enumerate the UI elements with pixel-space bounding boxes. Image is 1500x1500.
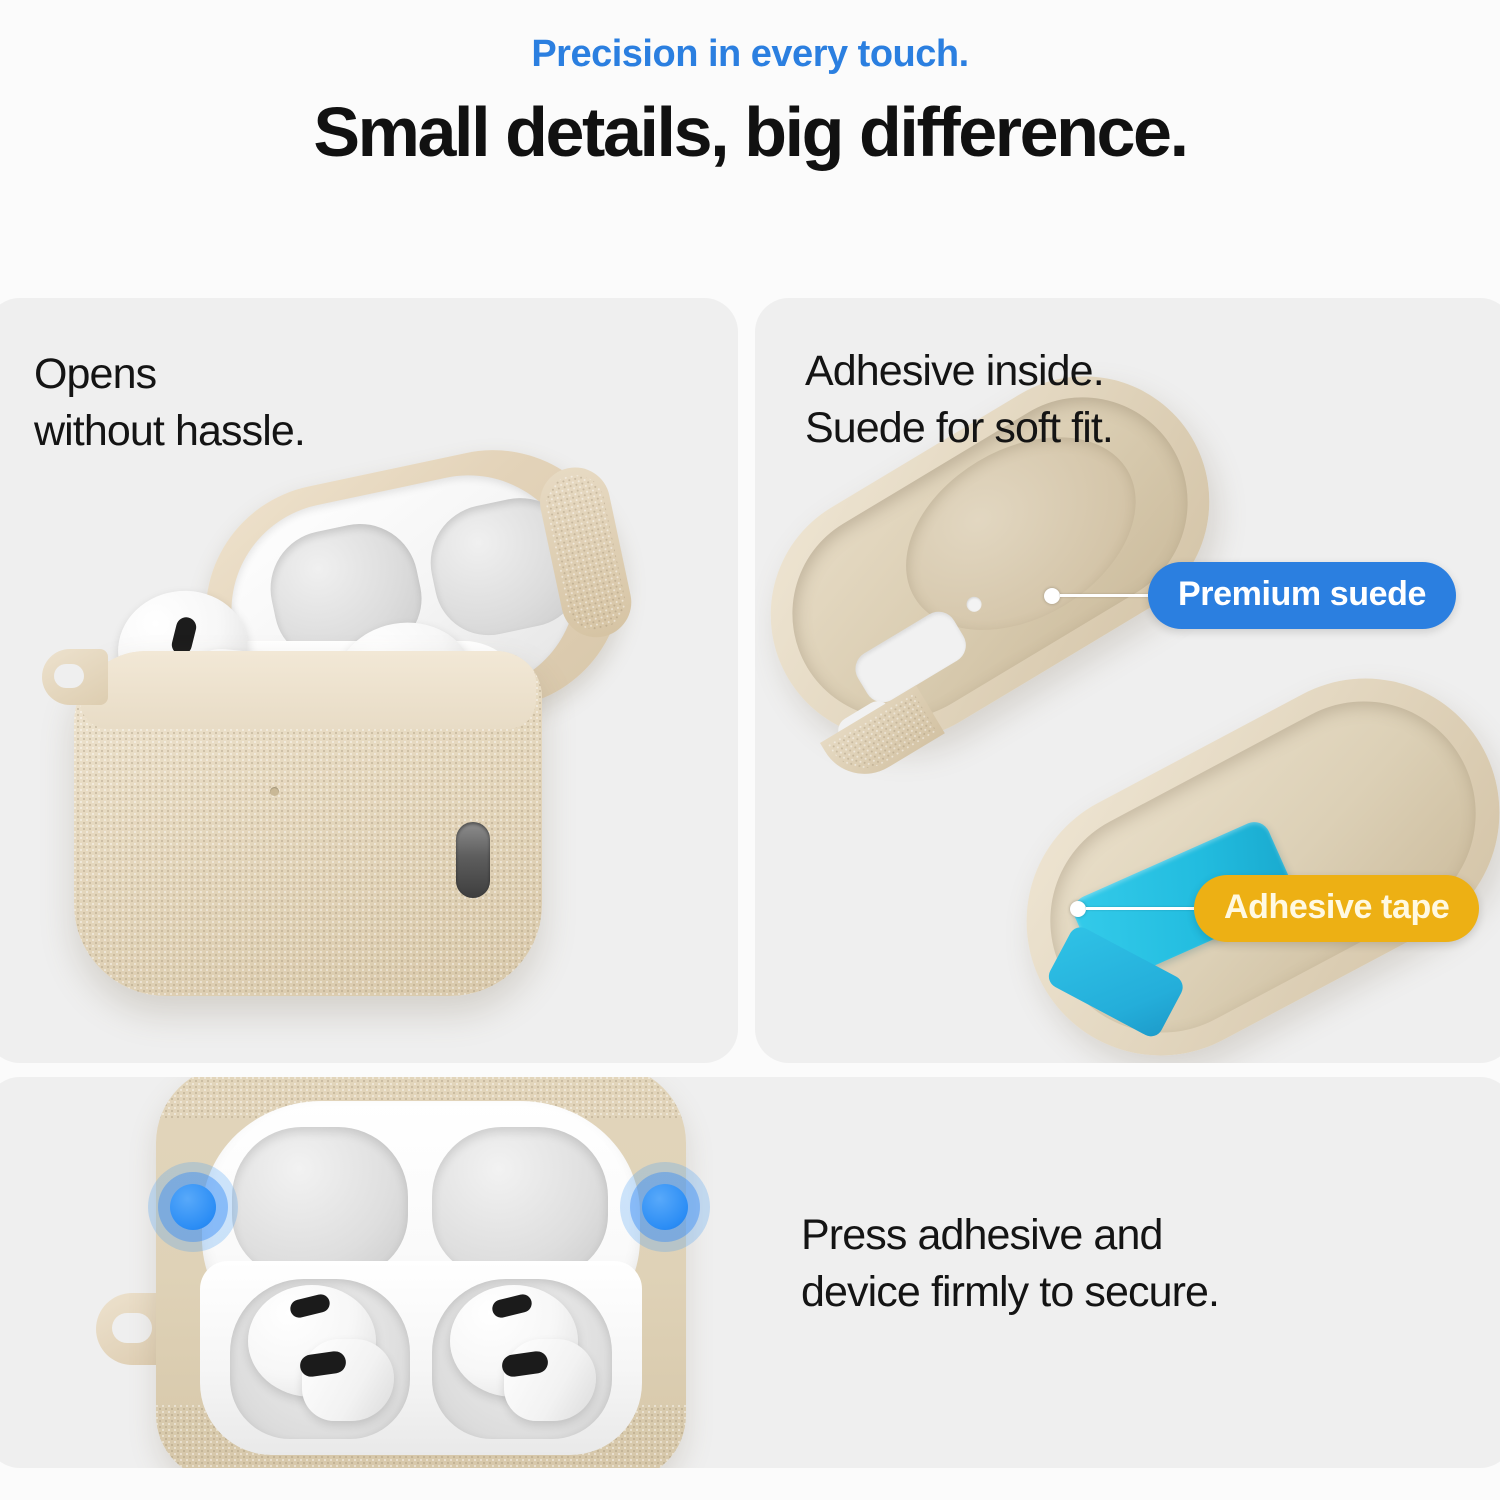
- panel-title-opens: Opens without hassle.: [34, 346, 305, 460]
- callout-leader-line: [1086, 907, 1194, 910]
- case-body-fabric: [74, 651, 542, 996]
- earbud-right: [444, 1285, 600, 1425]
- earbud-well-right: [432, 1279, 612, 1439]
- page-header: Precision in every touch. Small details,…: [0, 0, 1500, 172]
- callout-badge-label: Adhesive tape: [1194, 875, 1479, 942]
- case-tray-front: [200, 1261, 642, 1455]
- pulse-core: [170, 1184, 216, 1230]
- earbud-stem: [504, 1339, 596, 1421]
- earbud-stem: [302, 1339, 394, 1421]
- panel-title-adhesive: Adhesive inside. Suede for soft fit.: [805, 343, 1113, 457]
- fabric-texture: [828, 694, 936, 783]
- eyebrow-tagline: Precision in every touch.: [0, 34, 1500, 76]
- case-body-rim: [80, 651, 536, 729]
- callout-dot-icon: [1070, 901, 1086, 917]
- callout-leader-line: [1060, 594, 1148, 597]
- callout-adhesive-tape: Adhesive tape: [1070, 875, 1479, 942]
- feature-panel-opens: Opens without hassle.: [0, 298, 738, 1063]
- feature-panel-press: Press adhesive and device firmly to secu…: [0, 1077, 1500, 1468]
- product-image-case-open-angled: [56, 473, 676, 1053]
- page-headline: Small details, big difference.: [0, 92, 1500, 173]
- product-image-case-halves: [755, 433, 1500, 1063]
- callout-badge-label: Premium suede: [1148, 562, 1456, 629]
- panel-title-press: Press adhesive and device firmly to secu…: [801, 1207, 1219, 1321]
- product-image-case-front-open: [96, 1077, 736, 1468]
- lid-socket-right: [432, 1127, 608, 1277]
- feature-panel-adhesive: Adhesive inside. Suede for soft fit.: [755, 298, 1500, 1063]
- case-lower-shell: [979, 631, 1500, 1063]
- side-button-cutout: [456, 822, 490, 898]
- pulse-core: [642, 1184, 688, 1230]
- callout-dot-icon: [1044, 588, 1060, 604]
- led-indicator: [270, 787, 279, 796]
- press-point-right-indicator: [620, 1162, 710, 1252]
- case-shell-front: [156, 1077, 686, 1468]
- lower-shell-cavity: [1011, 662, 1500, 1063]
- earbud-left: [242, 1285, 398, 1425]
- press-point-left-indicator: [148, 1162, 238, 1252]
- callout-premium-suede: Premium suede: [1044, 562, 1456, 629]
- earbud-well-left: [230, 1279, 410, 1439]
- carabiner-loop: [42, 649, 108, 705]
- lid-socket-left: [232, 1127, 408, 1277]
